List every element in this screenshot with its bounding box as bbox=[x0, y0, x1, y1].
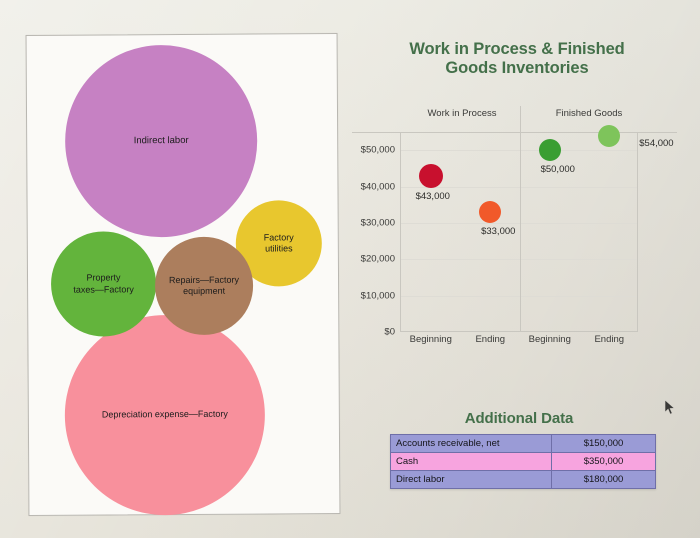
gridline-horizontal bbox=[401, 296, 637, 297]
table-cell-item: Accounts receivable, net bbox=[391, 435, 552, 453]
x-axis-tick-label: Beginning bbox=[401, 334, 461, 345]
inventories-chart: Work in Process Finished Goods $50,000$4… bbox=[352, 106, 677, 386]
bubble-indirect-labor[interactable]: Indirect labor bbox=[65, 45, 258, 238]
bubble-label-factory-utilities-line2: utilities bbox=[258, 243, 300, 255]
y-axis-tick-label: $0 bbox=[384, 327, 395, 338]
y-axis-tick-label: $40,000 bbox=[361, 181, 395, 192]
bubble-chart-panel: Depreciation expense—Factory Property ta… bbox=[26, 33, 341, 516]
chart-data-point-label: $33,000 bbox=[481, 226, 515, 237]
table-cell-item: Cash bbox=[391, 453, 552, 471]
gridline-horizontal bbox=[401, 223, 637, 224]
group-header-work-in-process: Work in Process bbox=[400, 108, 524, 119]
bubble-repairs-factory-equipment[interactable]: Repairs—Factory equipment bbox=[155, 237, 254, 336]
x-axis-tick-label: Ending bbox=[461, 334, 521, 345]
additional-data-title: Additional Data bbox=[374, 410, 664, 427]
bubble-property-taxes-factory[interactable]: Property taxes—Factory bbox=[51, 231, 157, 337]
y-axis-tick-label: $50,000 bbox=[361, 145, 395, 156]
chart-plot-area: $50,000$40,000$30,000$20,000$10,000$0Beg… bbox=[400, 132, 638, 332]
table-cell-amount: $350,000 bbox=[552, 453, 656, 471]
group-header-finished-goods: Finished Goods bbox=[527, 108, 651, 119]
group-divider-line bbox=[520, 106, 521, 331]
table-row: Accounts receivable, net$150,000 bbox=[391, 435, 656, 453]
chart-data-point[interactable] bbox=[598, 125, 620, 147]
y-axis-tick-label: $20,000 bbox=[361, 254, 395, 265]
table-row: Direct labor$180,000 bbox=[391, 471, 656, 489]
chart-group-header-row: Work in Process Finished Goods bbox=[352, 106, 677, 133]
chart-title-line2: Goods Inventories bbox=[372, 59, 662, 78]
table-row: Cash$350,000 bbox=[391, 453, 656, 471]
bubble-label-property-taxes-line1: Property bbox=[67, 273, 140, 285]
gridline-horizontal bbox=[401, 259, 637, 260]
additional-data-table: Accounts receivable, net$150,000Cash$350… bbox=[390, 434, 656, 489]
bubble-depreciation-expense-factory[interactable]: Depreciation expense—Factory bbox=[64, 315, 265, 516]
chart-data-point[interactable] bbox=[539, 139, 561, 161]
right-column: Work in Process & Finished Goods Invento… bbox=[352, 40, 682, 510]
table-cell-amount: $150,000 bbox=[552, 435, 656, 453]
chart-data-point[interactable] bbox=[479, 201, 501, 223]
y-axis-tick-label: $10,000 bbox=[361, 290, 395, 301]
chart-data-point-label: $43,000 bbox=[416, 191, 450, 202]
table-cell-item: Direct labor bbox=[391, 471, 552, 489]
chart-data-point-label: $54,000 bbox=[639, 138, 673, 149]
bubble-label-depreciation: Depreciation expense—Factory bbox=[96, 409, 234, 421]
chart-data-point-label: $50,000 bbox=[541, 164, 575, 175]
bubble-label-repairs: Repairs—Factory equipment bbox=[157, 274, 251, 297]
additional-data-table-body: Accounts receivable, net$150,000Cash$350… bbox=[391, 435, 656, 489]
bubble-label-property-taxes-line2: taxes—Factory bbox=[67, 284, 140, 296]
gridline-horizontal bbox=[401, 187, 637, 188]
bubble-label-factory-utilities-line1: Factory bbox=[258, 232, 300, 244]
gridline-horizontal bbox=[401, 150, 637, 151]
chart-data-point[interactable] bbox=[419, 164, 443, 188]
y-axis-tick-label: $30,000 bbox=[361, 217, 395, 228]
x-axis-tick-label: Beginning bbox=[520, 334, 580, 345]
table-cell-amount: $180,000 bbox=[552, 471, 656, 489]
x-axis-tick-label: Ending bbox=[580, 334, 640, 345]
bubble-label-repairs-line2: equipment bbox=[163, 286, 245, 298]
chart-title: Work in Process & Finished Goods Invento… bbox=[372, 40, 662, 79]
bubble-label-repairs-line1: Repairs—Factory bbox=[163, 274, 245, 286]
bubble-label-property-taxes: Property taxes—Factory bbox=[61, 272, 146, 295]
additional-data-section: Additional Data Accounts receivable, net… bbox=[374, 410, 664, 489]
chart-title-line1: Work in Process & Finished bbox=[372, 40, 662, 59]
bubble-label-indirect-labor: Indirect labor bbox=[128, 135, 195, 147]
bubble-label-factory-utilities: Factory utilities bbox=[252, 232, 306, 255]
